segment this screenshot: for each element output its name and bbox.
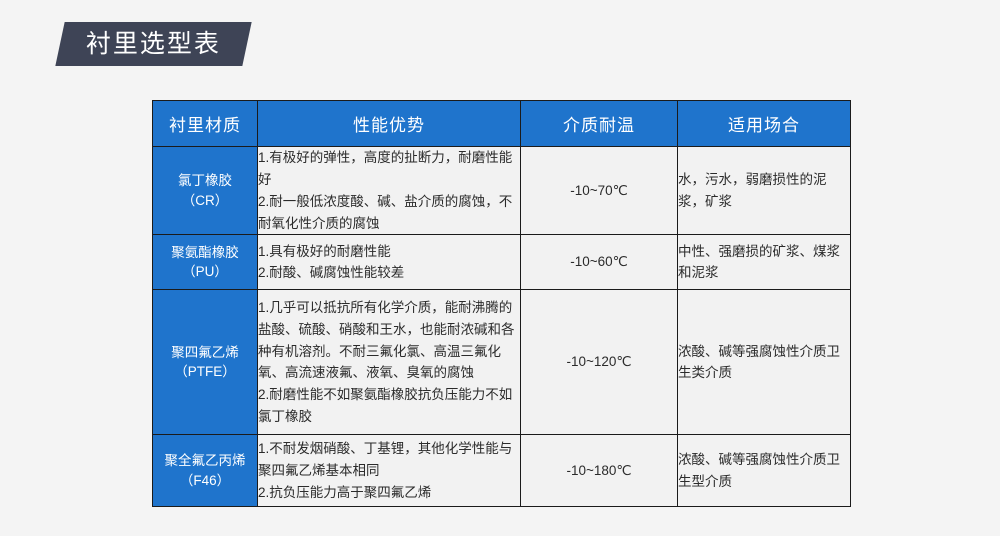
material-abbreviation: （PTFE） <box>153 362 257 382</box>
column-header-performance: 性能优势 <box>258 101 521 147</box>
material-abbreviation: （PU） <box>153 262 257 282</box>
cell-performance: 1.不耐发烟硝酸、丁基锂，其他化学性能与聚四氟乙烯基本相同 2.抗负压能力高于聚… <box>258 435 521 507</box>
column-header-temperature: 介质耐温 <box>521 101 678 147</box>
column-header-material: 衬里材质 <box>153 101 258 147</box>
cell-material: 聚四氟乙烯 （PTFE） <box>153 290 258 435</box>
table-row: 聚全氟乙丙烯 （F46） 1.不耐发烟硝酸、丁基锂，其他化学性能与聚四氟乙烯基本… <box>153 435 851 507</box>
cell-material: 聚氨酯橡胶 （PU） <box>153 235 258 290</box>
material-name: 氯丁橡胶 <box>153 171 257 191</box>
cell-application: 浓酸、碱等强腐蚀性介质卫生型介质 <box>678 435 851 507</box>
material-abbreviation: （CR） <box>153 191 257 211</box>
material-name: 聚氨酯橡胶 <box>153 243 257 263</box>
page-title-banner: 衬里选型表 <box>55 22 251 66</box>
table-header: 衬里材质 性能优势 介质耐温 适用场合 <box>153 101 851 147</box>
table-body: 氯丁橡胶 （CR） 1.有极好的弹性，高度的扯断力，耐磨性能好 2.耐一般低浓度… <box>153 147 851 507</box>
lining-selection-table-wrapper: 衬里材质 性能优势 介质耐温 适用场合 氯丁橡胶 （CR） 1.有极好的弹性，高… <box>152 100 850 507</box>
table-header-row: 衬里材质 性能优势 介质耐温 适用场合 <box>153 101 851 147</box>
material-abbreviation: （F46） <box>153 471 257 491</box>
cell-temperature: -10~180℃ <box>521 435 678 507</box>
table-row: 聚四氟乙烯 （PTFE） 1.几乎可以抵抗所有化学介质，能耐沸腾的盐酸、硫酸、硝… <box>153 290 851 435</box>
material-name: 聚全氟乙丙烯 <box>153 451 257 471</box>
cell-material: 聚全氟乙丙烯 （F46） <box>153 435 258 507</box>
cell-application: 中性、强磨损的矿浆、煤浆和泥浆 <box>678 235 851 290</box>
cell-temperature: -10~70℃ <box>521 147 678 235</box>
cell-material: 氯丁橡胶 （CR） <box>153 147 258 235</box>
cell-performance: 1.几乎可以抵抗所有化学介质，能耐沸腾的盐酸、硫酸、硝酸和王水，也能耐浓碱和各种… <box>258 290 521 435</box>
column-header-application: 适用场合 <box>678 101 851 147</box>
cell-temperature: -10~120℃ <box>521 290 678 435</box>
material-name: 聚四氟乙烯 <box>153 343 257 363</box>
cell-performance: 1.有极好的弹性，高度的扯断力，耐磨性能好 2.耐一般低浓度酸、碱、盐介质的腐蚀… <box>258 147 521 235</box>
page-root: 衬里选型表 衬里材质 性能优势 介质耐温 适用场合 <box>0 0 1000 536</box>
page-title: 衬里选型表 <box>86 32 221 57</box>
table-row: 氯丁橡胶 （CR） 1.有极好的弹性，高度的扯断力，耐磨性能好 2.耐一般低浓度… <box>153 147 851 235</box>
table-row: 聚氨酯橡胶 （PU） 1.具有极好的耐磨性能 2.耐酸、碱腐蚀性能较差 -10~… <box>153 235 851 290</box>
cell-application: 浓酸、碱等强腐蚀性介质卫生类介质 <box>678 290 851 435</box>
lining-selection-table: 衬里材质 性能优势 介质耐温 适用场合 氯丁橡胶 （CR） 1.有极好的弹性，高… <box>152 100 851 507</box>
cell-application: 水，污水，弱磨损性的泥浆，矿浆 <box>678 147 851 235</box>
cell-temperature: -10~60℃ <box>521 235 678 290</box>
cell-performance: 1.具有极好的耐磨性能 2.耐酸、碱腐蚀性能较差 <box>258 235 521 290</box>
